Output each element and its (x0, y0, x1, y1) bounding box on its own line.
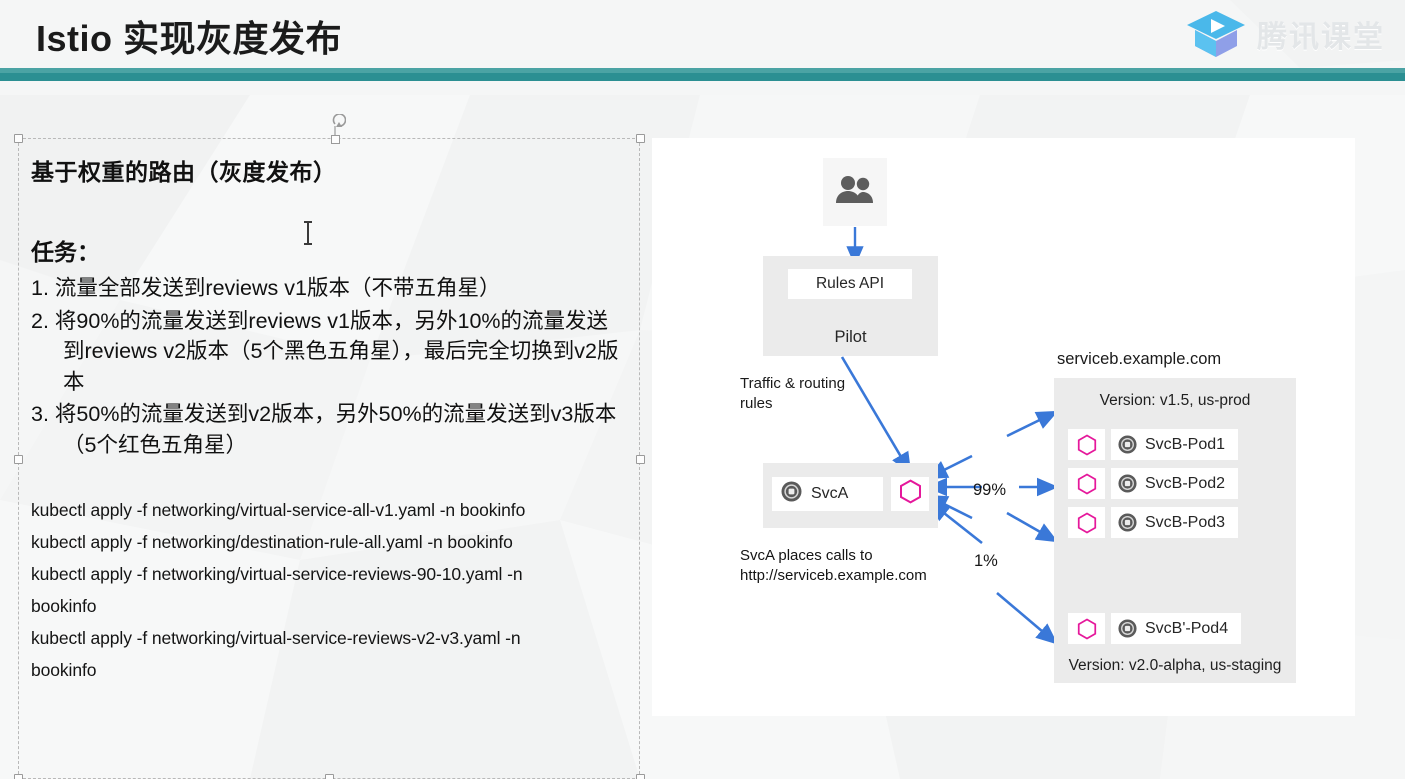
rotation-handle[interactable] (324, 114, 346, 149)
selected-textbox[interactable]: 基于权重的路由（灰度发布） 任务： 1. 流量全部发送到reviews v1版本… (18, 138, 640, 779)
pod-row: SvcB-Pod2 (1068, 468, 1238, 499)
resize-handle-mid-left[interactable] (14, 455, 23, 464)
pod-label: SvcB-Pod2 (1145, 475, 1225, 493)
resize-handle-bottom-left[interactable] (14, 774, 23, 779)
slide-header: Istio 实现灰度发布 腾讯课堂 (0, 0, 1405, 68)
pod-chip: SvcB-Pod3 (1111, 507, 1238, 538)
brand-logo: 腾讯课堂 (1185, 8, 1385, 60)
pod-chip: SvcB-Pod2 (1111, 468, 1238, 499)
svca-note: SvcA places calls to http://serviceb.exa… (740, 546, 970, 587)
pod-chip: SvcB'-Pod4 (1111, 613, 1241, 644)
graduation-cap-play-icon (1185, 8, 1247, 60)
service-circle-icon (1118, 435, 1137, 454)
pod-sidecar (1068, 507, 1105, 538)
tasks-label: 任务： (31, 233, 623, 267)
pod-sidecar (1068, 613, 1105, 644)
brand-name: 腾讯课堂 (1257, 12, 1385, 56)
textbox-content: 基于权重的路由（灰度发布） 任务： 1. 流量全部发送到reviews v1版本… (19, 139, 639, 686)
command-line: kubectl apply -f networking/virtual-serv… (31, 622, 623, 654)
task-list: 1. 流量全部发送到reviews v1版本（不带五角星） 2. 将90%的流量… (31, 273, 623, 460)
list-item: 2. 将90%的流量发送到reviews v1版本，另外10%的流量发送到rev… (31, 306, 623, 398)
users-box (823, 158, 887, 226)
text-cursor (303, 221, 313, 245)
cluster-version-top: Version: v1.5, us-prod (1054, 392, 1296, 410)
pod-label: SvcB-Pod1 (1145, 436, 1225, 454)
command-line: bookinfo (31, 654, 623, 686)
envoy-hexagon-icon (899, 479, 922, 509)
list-item: 1. 流量全部发送到reviews v1版本（不带五角星） (31, 273, 623, 304)
pilot-label: Pilot (763, 328, 938, 347)
command-line: kubectl apply -f networking/destination-… (31, 526, 623, 558)
resize-handle-top-right[interactable] (636, 134, 645, 143)
service-circle-icon (1118, 513, 1137, 532)
resize-handle-bottom-mid[interactable] (325, 774, 334, 779)
command-line: kubectl apply -f networking/virtual-serv… (31, 558, 623, 590)
resize-handle-top-left[interactable] (14, 134, 23, 143)
rules-api-chip: Rules API (788, 269, 912, 299)
pod-chip: SvcB-Pod1 (1111, 429, 1238, 460)
users-icon (834, 175, 876, 210)
pilot-box: Rules API Pilot (763, 256, 938, 356)
spacer (31, 195, 623, 233)
resize-handle-bottom-right[interactable] (636, 774, 645, 779)
page-title: Istio 实现灰度发布 (36, 10, 342, 62)
resize-handle-mid-right[interactable] (636, 455, 645, 464)
pod-label: SvcB-Pod3 (1145, 514, 1225, 532)
pod-row: SvcB'-Pod4 (1068, 613, 1241, 644)
svcb-host-label: serviceb.example.com (1057, 350, 1221, 369)
pod-sidecar (1068, 429, 1105, 460)
weight-primary-label: 99% (973, 481, 1006, 500)
traffic-routing-rules-label: Traffic & routing rules (740, 374, 880, 413)
command-line: bookinfo (31, 590, 623, 622)
istio-architecture-diagram: Rules API Pilot Traffic & routing rules … (652, 138, 1355, 716)
svca-label: SvcA (811, 485, 848, 503)
accent-bar-dark (0, 73, 1405, 81)
service-circle-icon (1118, 619, 1137, 638)
command-line: kubectl apply -f networking/virtual-serv… (31, 494, 623, 526)
service-circle-icon (781, 481, 802, 507)
svca-sidecar (891, 477, 929, 511)
pod-row: SvcB-Pod1 (1068, 429, 1238, 460)
svca-box: SvcA (763, 463, 938, 528)
command-list: kubectl apply -f networking/virtual-serv… (31, 494, 623, 686)
service-circle-icon (1118, 474, 1137, 493)
textbox-heading: 基于权重的路由（灰度发布） (31, 153, 623, 187)
pod-row: SvcB-Pod3 (1068, 507, 1238, 538)
cluster-version-bottom: Version: v2.0-alpha, us-staging (1054, 657, 1296, 675)
list-item: 3. 将50%的流量发送到v2版本，另外50%的流量发送到v3版本（5个红色五角… (31, 399, 623, 460)
svca-chip: SvcA (772, 477, 883, 511)
pod-label: SvcB'-Pod4 (1145, 620, 1228, 638)
svcb-cluster: Version: v1.5, us-prod Version: v2.0-alp… (1054, 378, 1296, 683)
weight-canary-label: 1% (974, 552, 998, 571)
pod-sidecar (1068, 468, 1105, 499)
